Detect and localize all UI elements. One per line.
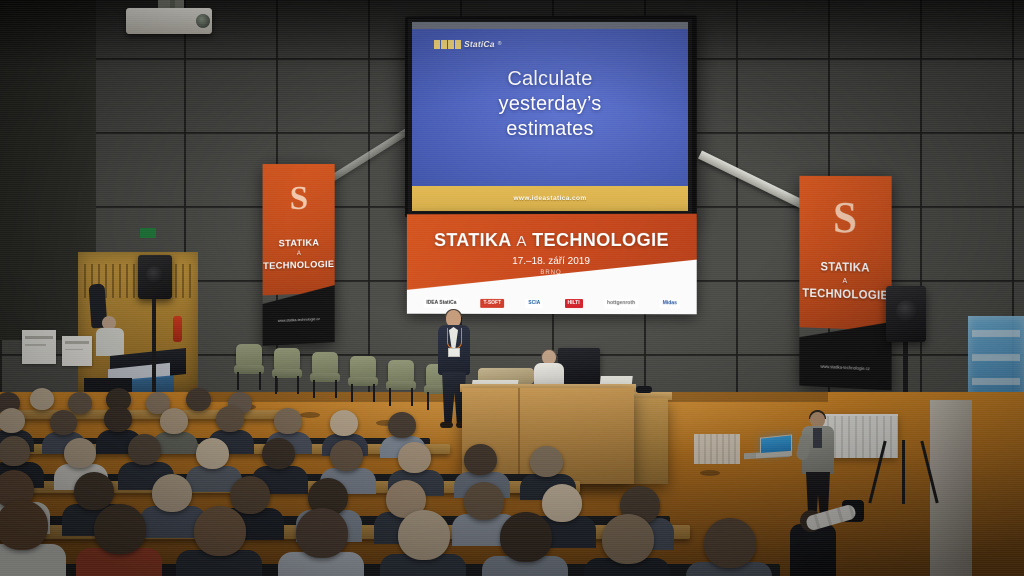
presenter-lanyard-icon xyxy=(447,328,462,349)
audience-head xyxy=(296,508,348,558)
wall-notice xyxy=(62,336,92,366)
audience-head xyxy=(194,506,246,556)
sponsor-logo: HILTI xyxy=(564,299,582,308)
idea-statica-logo: StatiCa ® xyxy=(434,39,501,49)
audience-head xyxy=(330,440,363,471)
window-slat xyxy=(972,354,1020,361)
audience-head xyxy=(530,446,563,477)
audience-head xyxy=(542,484,582,522)
sponsor-logo: T-SOFT xyxy=(481,298,505,307)
banner-title-part-2: TECHNOLOGIE xyxy=(532,230,669,250)
exit-sign-icon xyxy=(140,228,156,238)
window-slat xyxy=(972,378,1020,385)
main-stage-banner: STATIKA A TECHNOLOGIE 17.–18. září 2019 … xyxy=(407,214,697,315)
audience-head xyxy=(30,388,54,410)
wall-notice xyxy=(22,330,56,364)
audience-shoulders xyxy=(0,544,66,576)
banner-right-s-logo-icon: S xyxy=(833,192,857,243)
audience-head xyxy=(186,388,211,411)
audience-head xyxy=(602,514,654,564)
audience-head xyxy=(464,482,504,520)
audience-area xyxy=(0,386,790,576)
banner-date: 17.–18. září 2019 xyxy=(407,256,697,267)
presentation-slide: StatiCa ® Calculate yesterday’s estimate… xyxy=(412,29,688,211)
audience-head xyxy=(388,412,416,438)
banner-title-connector: A xyxy=(516,233,526,250)
banner-left-s-logo-icon: S xyxy=(290,180,308,218)
side-banner-right: S STATIKA A TECHNOLOGIE www.statika-tech… xyxy=(799,176,891,391)
audience-head xyxy=(464,444,497,475)
audience-head xyxy=(274,408,302,434)
pa-speaker-left-cone-icon xyxy=(146,266,164,284)
audience-head xyxy=(104,406,132,432)
audience-head xyxy=(128,434,161,465)
pa-speaker-right-cone-icon xyxy=(896,300,918,322)
audience-head xyxy=(94,504,146,554)
laptop-presenter-shirt xyxy=(813,428,822,448)
audience-head xyxy=(0,408,25,433)
audience-head xyxy=(0,436,30,466)
banner-orange-field xyxy=(407,214,697,290)
banner-title-part-1: STATIKA xyxy=(434,230,511,250)
banner-title: STATIKA A TECHNOLOGIE xyxy=(407,230,697,251)
stage-chair xyxy=(234,344,264,390)
banner-left-line-3: TECHNOLOGIE xyxy=(263,259,335,272)
sponsor-logo: Midas xyxy=(660,299,680,308)
registered-mark: ® xyxy=(498,41,502,47)
slide-title-line-3: estimates xyxy=(412,117,688,142)
audience-head xyxy=(704,518,756,568)
audience-head xyxy=(262,438,295,469)
audience-head xyxy=(152,474,192,512)
audience-head xyxy=(230,476,270,514)
sponsor-logo: SCIA xyxy=(525,298,543,307)
slide-title: Calculate yesterday’s estimates xyxy=(412,67,688,142)
sponsor-logo: IDEA StatiCa xyxy=(423,298,459,307)
screen-top-strip xyxy=(412,22,688,29)
audience-head xyxy=(64,438,96,468)
audience-head xyxy=(0,500,48,550)
sound-technician xyxy=(96,316,124,356)
pa-speaker-left-stand xyxy=(152,299,156,399)
audience-head xyxy=(216,406,244,432)
technician-body xyxy=(96,328,124,356)
audience-head xyxy=(196,438,229,469)
audience-head xyxy=(330,410,358,436)
slide-title-line-1: Calculate xyxy=(412,67,688,92)
side-banner-left: S STATIKA A TECHNOLOGIE www.statika-tech… xyxy=(263,164,335,346)
projector-lens-icon xyxy=(196,14,210,28)
banner-right-line-1: STATIKA xyxy=(799,261,891,275)
sponsor-logo: hottgenroth xyxy=(604,299,638,308)
audience-head xyxy=(160,408,188,434)
slide-footer: www.ideastatica.com xyxy=(412,186,688,211)
slide-footer-url: www.ideastatica.com xyxy=(513,195,586,202)
audience-head xyxy=(398,442,431,473)
audience-head xyxy=(68,392,92,414)
desktop-monitor xyxy=(558,348,600,386)
window-slat xyxy=(972,330,1020,337)
banner-left-line-1: STATIKA xyxy=(263,237,335,250)
banner-city: BRNO xyxy=(407,270,697,276)
statica-wordmark: StatiCa xyxy=(464,39,495,49)
fire-extinguisher-icon xyxy=(173,316,182,342)
banner-right-bottom xyxy=(799,318,891,390)
slide-title-line-2: yesterday’s xyxy=(412,92,688,117)
photographer xyxy=(790,498,886,576)
presenter-badge xyxy=(448,348,460,357)
camera-tripod xyxy=(876,440,932,506)
idea-logo-blocks-icon xyxy=(434,40,461,49)
audience-head xyxy=(500,512,552,562)
lecture-hall-photo: StatiCa ® Calculate yesterday’s estimate… xyxy=(0,0,1024,576)
audience-head xyxy=(74,472,114,510)
audience-head xyxy=(398,510,450,560)
audience-head xyxy=(50,410,77,435)
right-pillar xyxy=(930,400,972,576)
